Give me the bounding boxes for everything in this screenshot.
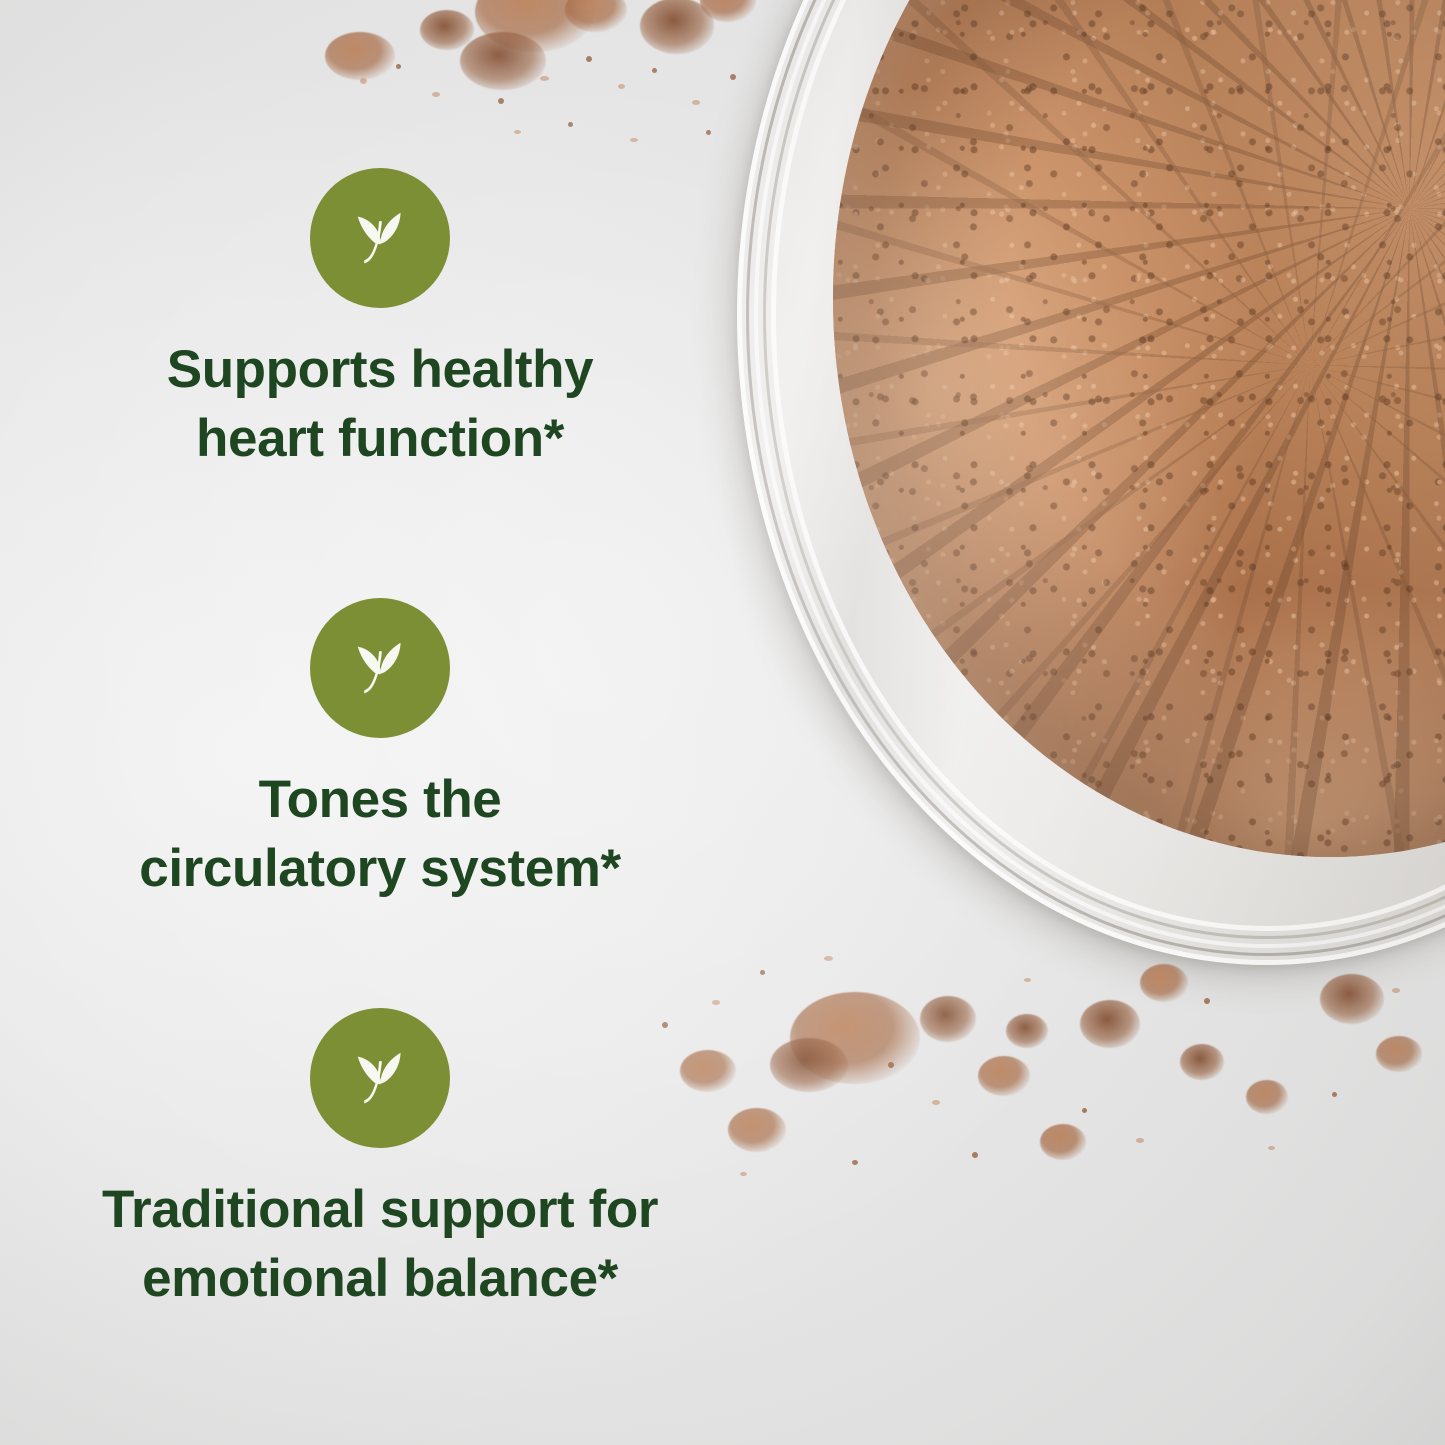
sprout-leaf-icon <box>338 196 422 280</box>
benefit-item-3: Traditional support for emotional balanc… <box>0 1008 760 1314</box>
benefit-text-2: Tones the circulatory system* <box>0 766 760 904</box>
benefit-item-1: Supports healthy heart function* <box>0 168 760 474</box>
sprout-leaf-icon-badge-2 <box>310 598 450 738</box>
benefit-item-2: Tones the circulatory system* <box>0 598 760 904</box>
product-benefits-image: Supports healthy heart function* Tones t… <box>0 0 1445 1445</box>
sprout-leaf-icon <box>338 626 422 710</box>
sprout-leaf-icon-badge-1 <box>310 168 450 308</box>
sprout-leaf-icon-badge-3 <box>310 1008 450 1148</box>
benefit-text-1: Supports healthy heart function* <box>0 336 760 474</box>
benefit-text-3: Traditional support for emotional balanc… <box>0 1176 760 1314</box>
sprout-leaf-icon <box>338 1036 422 1120</box>
